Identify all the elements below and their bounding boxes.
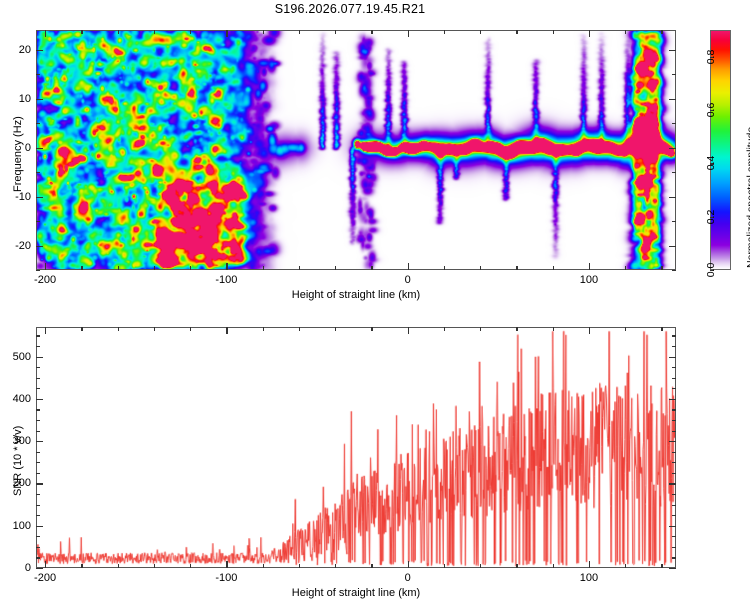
x-axis-title: Height of straight line (km)	[292, 289, 420, 301]
spectrogram-image	[37, 31, 675, 269]
y-minor-tick	[672, 409, 676, 410]
y-minor-tick	[672, 494, 676, 495]
snr-panel	[36, 327, 676, 568]
x-minor-tick	[516, 564, 517, 568]
y-minor-tick	[36, 452, 40, 453]
x-tick	[589, 327, 590, 334]
y-tick-label: 500	[5, 351, 31, 363]
y-tick	[669, 197, 676, 198]
y-minor-tick	[36, 420, 40, 421]
x-minor-tick	[371, 327, 372, 331]
colorbar-tick-label: 0.4	[705, 156, 717, 171]
y-tick	[669, 483, 676, 484]
y-tick	[36, 441, 43, 442]
x-minor-tick	[81, 266, 82, 270]
y-minor-tick	[36, 221, 40, 222]
y-tick	[36, 99, 43, 100]
x-minor-tick	[154, 564, 155, 568]
x-minor-tick	[625, 266, 626, 270]
y-minor-tick	[672, 452, 676, 453]
x-tick-label: -100	[215, 572, 237, 584]
colorbar-tick-label: 0.6	[705, 103, 717, 118]
y-tick	[669, 246, 676, 247]
x-tick	[45, 561, 46, 568]
y-tick-label: 10	[5, 93, 31, 105]
x-minor-tick	[516, 327, 517, 331]
y-minor-tick	[36, 335, 40, 336]
y-minor-tick	[36, 367, 40, 368]
x-tick	[45, 30, 46, 37]
y-tick-label: 400	[5, 393, 31, 405]
y-minor-tick	[36, 494, 40, 495]
x-minor-tick	[553, 30, 554, 34]
y-tick	[669, 148, 676, 149]
x-tick	[589, 30, 590, 37]
x-minor-tick	[81, 327, 82, 331]
x-minor-tick	[81, 564, 82, 568]
y-tick	[36, 50, 43, 51]
x-minor-tick	[480, 266, 481, 270]
y-minor-tick	[672, 74, 676, 75]
colorbar-tick-label: 0.0	[705, 263, 717, 278]
x-minor-tick	[299, 327, 300, 331]
x-minor-tick	[661, 266, 662, 270]
y-minor-tick	[36, 431, 40, 432]
x-minor-tick	[299, 266, 300, 270]
y-minor-tick	[672, 547, 676, 548]
y-tick-label: 0	[5, 562, 31, 574]
y-minor-tick	[672, 123, 676, 124]
y-tick	[36, 246, 43, 247]
y-tick	[669, 441, 676, 442]
x-minor-tick	[444, 564, 445, 568]
x-minor-tick	[154, 327, 155, 331]
x-minor-tick	[118, 564, 119, 568]
x-minor-tick	[553, 266, 554, 270]
x-minor-tick	[263, 266, 264, 270]
y-minor-tick	[36, 74, 40, 75]
x-tick	[45, 263, 46, 270]
y-tick-label: -10	[5, 191, 31, 203]
x-minor-tick	[444, 266, 445, 270]
y-tick	[669, 526, 676, 527]
x-minor-tick	[625, 564, 626, 568]
y-tick	[36, 197, 43, 198]
y-tick	[36, 399, 43, 400]
x-tick	[408, 561, 409, 568]
x-minor-tick	[190, 30, 191, 34]
y-minor-tick	[672, 505, 676, 506]
colorbar	[710, 30, 731, 270]
y-tick	[36, 568, 43, 569]
y-tick	[36, 357, 43, 358]
x-minor-tick	[335, 564, 336, 568]
x-minor-tick	[661, 564, 662, 568]
y-minor-tick	[36, 409, 40, 410]
x-tick	[226, 327, 227, 334]
colorbar-title: Normalized spectral amplitude	[745, 127, 750, 268]
page-title: S196.2026.077.19.45.R21	[0, 2, 700, 16]
x-minor-tick	[371, 266, 372, 270]
x-tick	[589, 263, 590, 270]
x-minor-tick	[553, 564, 554, 568]
y-minor-tick	[36, 547, 40, 548]
x-minor-tick	[118, 327, 119, 331]
x-minor-tick	[118, 266, 119, 270]
x-minor-tick	[335, 266, 336, 270]
x-minor-tick	[335, 30, 336, 34]
colorbar-tick-label: 0.2	[705, 209, 717, 224]
y-tick	[36, 483, 43, 484]
x-minor-tick	[190, 327, 191, 331]
y-tick	[669, 357, 676, 358]
x-minor-tick	[625, 30, 626, 34]
y-tick	[669, 568, 676, 569]
x-tick	[408, 263, 409, 270]
y-axis-title: Frequency (Hz)	[12, 116, 24, 192]
x-tick	[408, 327, 409, 334]
colorbar-tick-label: 0.8	[705, 49, 717, 64]
x-tick	[408, 30, 409, 37]
x-tick-label: -200	[34, 572, 56, 584]
x-minor-tick	[516, 266, 517, 270]
y-minor-tick	[672, 270, 676, 271]
y-minor-tick	[672, 473, 676, 474]
y-minor-tick	[672, 367, 676, 368]
y-minor-tick	[672, 335, 676, 336]
x-minor-tick	[516, 30, 517, 34]
y-tick-label: -20	[5, 240, 31, 252]
y-minor-tick	[672, 536, 676, 537]
x-minor-tick	[661, 327, 662, 331]
colorbar-gradient	[711, 31, 730, 269]
x-axis-title: Height of straight line (km)	[292, 587, 420, 599]
y-minor-tick	[36, 473, 40, 474]
x-minor-tick	[625, 327, 626, 331]
x-tick	[226, 30, 227, 37]
y-minor-tick	[672, 515, 676, 516]
y-minor-tick	[672, 420, 676, 421]
y-minor-tick	[36, 270, 40, 271]
x-minor-tick	[263, 327, 264, 331]
y-minor-tick	[672, 431, 676, 432]
x-minor-tick	[154, 266, 155, 270]
y-axis-title: SNR (10 * v/v)	[12, 425, 24, 495]
x-tick-label: 100	[580, 274, 598, 286]
x-minor-tick	[371, 30, 372, 34]
x-tick-label: 0	[405, 572, 411, 584]
snr-trace	[37, 328, 675, 567]
x-tick	[589, 561, 590, 568]
y-minor-tick	[36, 462, 40, 463]
x-minor-tick	[299, 564, 300, 568]
y-minor-tick	[36, 346, 40, 347]
x-minor-tick	[263, 564, 264, 568]
y-tick	[669, 399, 676, 400]
x-minor-tick	[371, 564, 372, 568]
x-minor-tick	[263, 30, 264, 34]
x-minor-tick	[553, 327, 554, 331]
x-tick-label: -100	[215, 274, 237, 286]
spectrogram-panel	[36, 30, 676, 270]
y-minor-tick	[36, 378, 40, 379]
y-tick	[36, 526, 43, 527]
y-minor-tick	[36, 172, 40, 173]
x-minor-tick	[335, 327, 336, 331]
x-tick-label: 0	[405, 274, 411, 286]
y-tick-label: 100	[5, 520, 31, 532]
y-tick	[669, 50, 676, 51]
y-minor-tick	[672, 221, 676, 222]
x-minor-tick	[118, 30, 119, 34]
x-minor-tick	[444, 30, 445, 34]
y-minor-tick	[672, 462, 676, 463]
x-minor-tick	[154, 30, 155, 34]
y-minor-tick	[672, 346, 676, 347]
x-tick	[226, 263, 227, 270]
x-minor-tick	[480, 564, 481, 568]
y-minor-tick	[672, 172, 676, 173]
x-minor-tick	[480, 30, 481, 34]
y-minor-tick	[672, 378, 676, 379]
x-tick	[226, 561, 227, 568]
x-minor-tick	[81, 30, 82, 34]
x-tick-label: -200	[34, 274, 56, 286]
x-minor-tick	[190, 266, 191, 270]
x-tick	[45, 327, 46, 334]
x-minor-tick	[444, 327, 445, 331]
y-tick	[669, 99, 676, 100]
y-minor-tick	[36, 123, 40, 124]
x-minor-tick	[190, 564, 191, 568]
y-minor-tick	[36, 536, 40, 537]
y-minor-tick	[672, 557, 676, 558]
y-minor-tick	[36, 557, 40, 558]
y-minor-tick	[36, 515, 40, 516]
y-tick	[36, 148, 43, 149]
x-minor-tick	[480, 327, 481, 331]
y-minor-tick	[36, 505, 40, 506]
x-minor-tick	[661, 30, 662, 34]
y-minor-tick	[672, 388, 676, 389]
x-tick-label: 100	[580, 572, 598, 584]
x-minor-tick	[299, 30, 300, 34]
y-minor-tick	[36, 388, 40, 389]
y-tick-label: 20	[5, 44, 31, 56]
